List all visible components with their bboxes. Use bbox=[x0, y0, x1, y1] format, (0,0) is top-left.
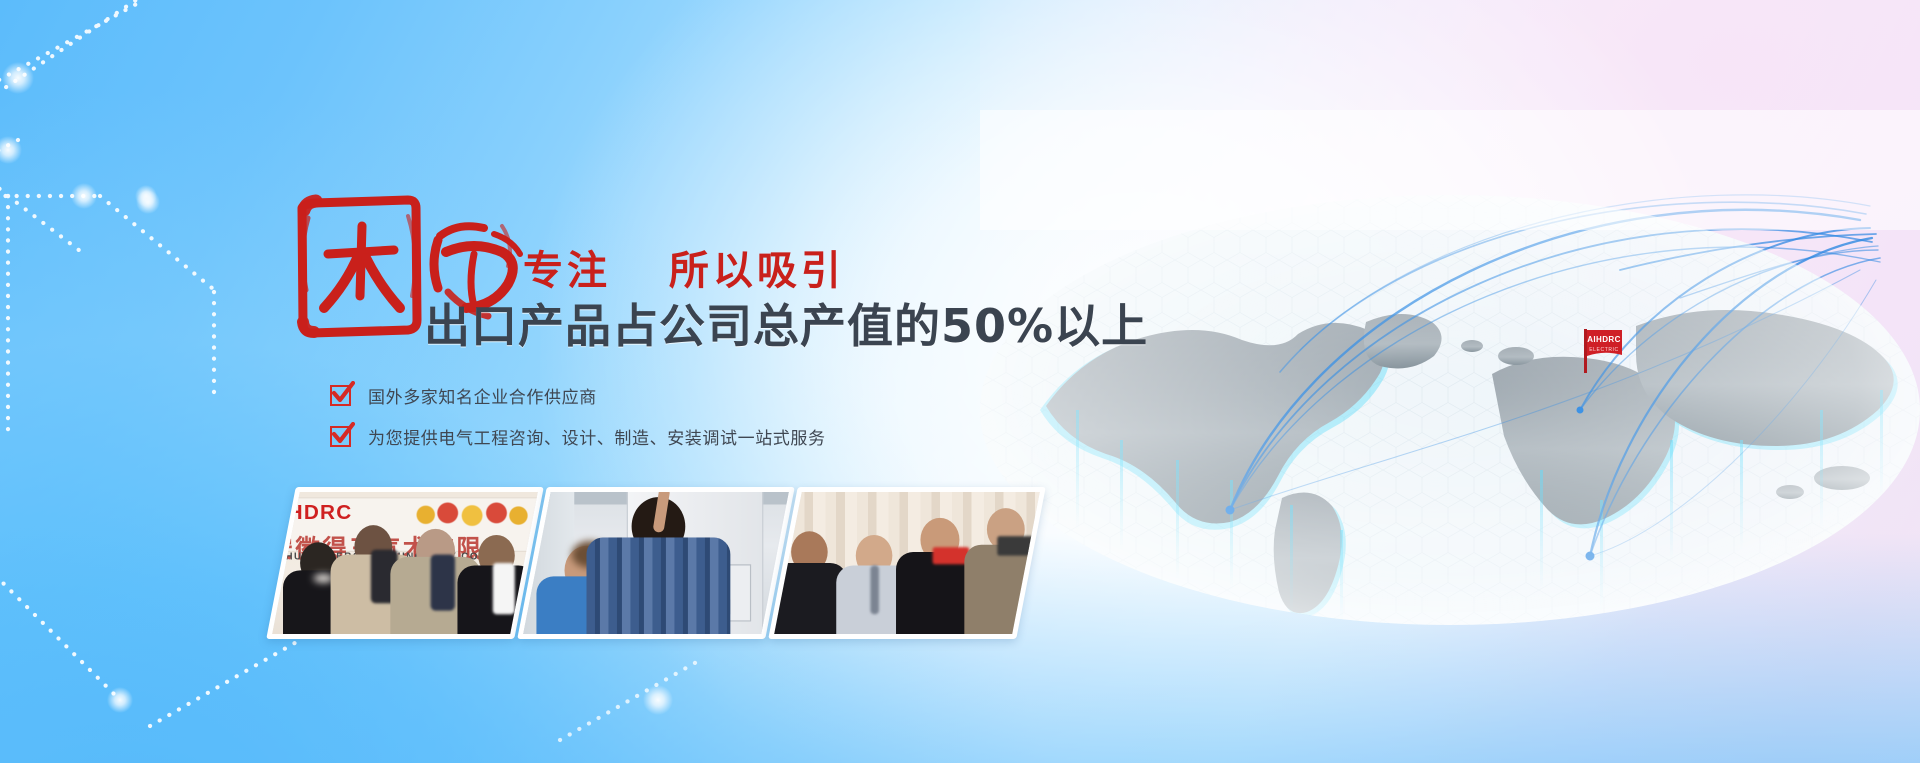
photo-person bbox=[776, 532, 843, 634]
page-title: 出口产品占公司总产值的50%以上 bbox=[424, 290, 1148, 356]
photo-frame bbox=[523, 492, 789, 634]
photo-scene-four-men-group bbox=[774, 492, 1040, 634]
slogan-text: 专注 所以吸引 bbox=[523, 238, 845, 296]
photo-person bbox=[971, 508, 1040, 634]
photo-scene-lobby-group: NHDRC 安徽得三气术有限 ANHUI RUI ERGY TECHNOLOGY… bbox=[272, 492, 538, 634]
gallery-photo-1[interactable]: NHDRC 安徽得三气术有限 ANHUI RUI ERGY TECHNOLOGY… bbox=[266, 487, 544, 639]
photo-banner-logo-text: NHDRC bbox=[272, 501, 352, 525]
list-item: 国外多家知名企业合作供应商 bbox=[330, 383, 826, 408]
banner-content: 专注 所以吸引 出口产品占公司总产值的50%以上 国外多家知名企业合作供应商 bbox=[0, 0, 1920, 763]
photo-gallery: NHDRC 安徽得三气术有限 ANHUI RUI ERGY TECHNOLOGY… bbox=[281, 487, 1061, 647]
photo-frame bbox=[774, 492, 1040, 634]
list-item-label: 为您提供电气工程咨询、设计、制造、安装调试一站式服务 bbox=[368, 424, 826, 449]
list-item-label: 国外多家知名企业合作供应商 bbox=[368, 383, 597, 408]
slogan-part2: 所以吸引 bbox=[669, 248, 845, 294]
photo-frame: NHDRC 安徽得三气术有限 ANHUI RUI ERGY TECHNOLOGY… bbox=[272, 492, 538, 634]
photo-scene-cabinet-inspection bbox=[523, 492, 789, 634]
feature-list: 国外多家知名企业合作供应商 为您提供电气工程咨询、设计、制造、安装调试一站式服务 bbox=[330, 383, 826, 465]
gallery-photo-3[interactable] bbox=[768, 487, 1046, 639]
gallery-photo-2[interactable] bbox=[517, 487, 795, 639]
slogan-part1: 专注 bbox=[523, 248, 611, 294]
list-item: 为您提供电气工程咨询、设计、制造、安装调试一站式服务 bbox=[330, 424, 826, 449]
banner-stage: AIHDRC ELECTRIC bbox=[0, 0, 1920, 763]
checkbox-checked-icon bbox=[330, 426, 351, 447]
checkbox-checked-icon bbox=[330, 385, 351, 406]
photo-person bbox=[463, 535, 530, 634]
